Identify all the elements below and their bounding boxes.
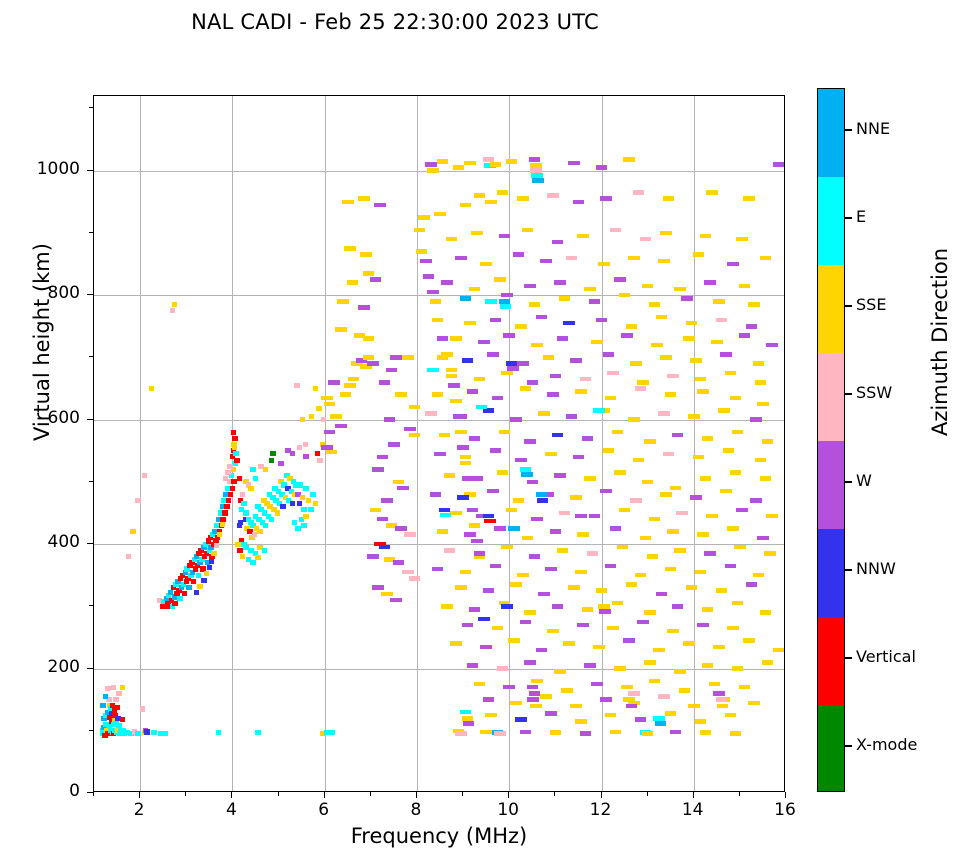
data-point: [462, 623, 474, 628]
y-tick-label: 1000: [10, 159, 80, 179]
data-point: [499, 299, 511, 304]
data-point: [232, 445, 238, 450]
data-point: [513, 498, 525, 503]
data-point: [529, 302, 541, 307]
data-point: [718, 408, 730, 413]
data-point: [280, 504, 286, 509]
data-point: [358, 305, 370, 310]
data-point: [360, 252, 372, 257]
colorbar-title: Azimuth Direction: [928, 192, 952, 492]
data-point: [501, 371, 513, 376]
x-tick-label: 4: [201, 800, 261, 820]
data-point: [303, 486, 309, 491]
colorbar-segment-ssw[interactable]: [818, 353, 844, 442]
data-point: [425, 411, 437, 416]
data-point: [596, 318, 608, 323]
data-point: [321, 417, 327, 422]
data-point: [474, 551, 486, 556]
data-point: [427, 168, 439, 173]
data-point: [310, 492, 316, 497]
data-point: [233, 451, 239, 456]
data-point: [303, 454, 309, 459]
data-point: [679, 688, 691, 693]
data-point: [367, 361, 379, 366]
data-point: [757, 402, 769, 407]
data-point: [474, 193, 486, 198]
data-point: [455, 256, 467, 261]
colorbar-tick: [845, 657, 852, 658]
data-point: [683, 641, 695, 646]
data-point: [605, 713, 617, 718]
data-point: [216, 730, 222, 735]
data-point: [642, 731, 654, 736]
data-point: [584, 476, 596, 481]
data-point: [591, 340, 603, 345]
data-point: [630, 498, 642, 503]
data-point: [524, 610, 536, 615]
data-point: [379, 380, 391, 385]
data-point: [384, 417, 396, 422]
data-point: [300, 417, 306, 422]
colorbar-label-nne: NNE: [856, 119, 890, 138]
data-point: [628, 417, 640, 422]
data-point: [563, 641, 575, 646]
data-point: [501, 293, 513, 298]
data-point: [290, 501, 296, 506]
data-point: [658, 694, 670, 699]
data-point: [570, 358, 582, 363]
colorbar-segment-nne[interactable]: [818, 89, 844, 178]
data-point: [395, 526, 407, 531]
data-point: [623, 157, 635, 162]
data-point: [483, 588, 495, 593]
data-point: [232, 436, 238, 441]
data-point: [416, 249, 428, 254]
data-point: [238, 520, 244, 525]
data-point: [520, 620, 532, 625]
data-point: [381, 592, 393, 597]
data-point: [762, 439, 774, 444]
data-point: [547, 629, 559, 634]
data-point: [688, 704, 700, 709]
data-point: [250, 560, 256, 565]
data-point: [658, 411, 670, 416]
data-point: [743, 196, 755, 201]
data-point: [464, 321, 476, 326]
data-point: [736, 237, 748, 242]
x-tick-label: 6: [294, 800, 354, 820]
data-point: [295, 526, 301, 531]
data-point: [434, 452, 446, 457]
data-point: [607, 626, 619, 631]
data-point: [623, 697, 635, 702]
data-point: [237, 548, 243, 553]
data-point: [324, 430, 336, 435]
data-point: [344, 383, 356, 388]
data-point: [478, 617, 490, 622]
data-point: [377, 455, 389, 460]
data-point: [467, 663, 479, 668]
data-point: [547, 193, 559, 198]
data-point: [301, 523, 307, 528]
data-point: [194, 590, 200, 595]
data-point: [191, 579, 197, 584]
data-point: [753, 361, 765, 366]
data-point: [450, 511, 462, 516]
data-point: [570, 704, 582, 709]
y-tick-mark: [89, 481, 93, 482]
data-point: [762, 660, 774, 665]
y-tick-mark: [87, 543, 93, 544]
data-point: [695, 377, 707, 382]
data-point: [326, 450, 338, 455]
data-point: [713, 691, 725, 696]
data-point: [469, 287, 481, 292]
data-point: [559, 296, 571, 301]
data-point: [388, 442, 400, 447]
data-point: [566, 256, 578, 261]
data-point: [308, 507, 314, 512]
data-point: [545, 452, 557, 457]
data-point: [439, 433, 451, 438]
data-point: [522, 228, 534, 233]
colorbar-segment-x-mode[interactable]: [818, 705, 844, 792]
data-point: [114, 705, 120, 710]
data-point: [746, 324, 758, 329]
data-point: [557, 548, 569, 553]
data-point: [483, 514, 495, 519]
data-point: [764, 551, 776, 556]
data-point: [348, 377, 360, 382]
data-point: [490, 162, 502, 167]
data-point: [563, 321, 575, 326]
data-point: [655, 721, 667, 726]
data-point: [702, 436, 714, 441]
data-point: [667, 374, 679, 379]
data-point: [467, 508, 479, 513]
data-point: [471, 231, 483, 236]
data-point: [727, 526, 739, 531]
data-point: [103, 694, 109, 699]
data-point: [328, 380, 340, 385]
data-point: [647, 554, 659, 559]
data-point: [651, 343, 663, 348]
data-point: [589, 299, 601, 304]
data-point: [484, 519, 496, 524]
x-tick-mark: [508, 792, 509, 798]
data-point: [730, 731, 742, 736]
data-point: [550, 730, 562, 735]
data-point: [540, 694, 552, 699]
colorbar-label-x-mode: X-mode: [856, 735, 917, 754]
colorbar-tick: [845, 393, 852, 394]
data-point: [543, 355, 555, 360]
data-point: [522, 536, 534, 541]
data-point: [748, 701, 760, 706]
data-point: [517, 361, 529, 366]
data-point: [501, 545, 513, 550]
data-point: [575, 389, 587, 394]
data-point: [497, 470, 509, 475]
data-point: [709, 682, 721, 687]
data-point: [409, 576, 421, 581]
data-point: [672, 604, 684, 609]
data-point: [713, 645, 725, 650]
y-tick-mark: [87, 792, 93, 793]
data-point: [530, 704, 542, 709]
data-point: [515, 324, 527, 329]
data-point: [635, 573, 647, 578]
data-point: [610, 228, 622, 233]
data-point: [644, 439, 656, 444]
colorbar[interactable]: [817, 88, 845, 792]
data-point: [224, 504, 230, 509]
colorbar-label-w: W: [856, 471, 872, 490]
data-point: [499, 234, 511, 239]
data-point: [750, 417, 762, 422]
data-point: [390, 355, 402, 360]
data-point: [575, 514, 587, 519]
data-point: [619, 508, 631, 513]
data-point: [665, 392, 677, 397]
data-point: [487, 489, 499, 494]
data-point: [577, 532, 589, 537]
data-point: [330, 414, 342, 419]
data-point: [725, 371, 737, 376]
data-point: [425, 162, 437, 167]
data-point: [510, 417, 522, 422]
data-point: [547, 392, 559, 397]
data-point: [177, 596, 183, 601]
data-point: [483, 697, 495, 702]
x-tick-label: 2: [109, 800, 169, 820]
data-point: [557, 336, 569, 341]
data-point: [568, 585, 580, 590]
data-point: [755, 380, 767, 385]
data-point: [363, 355, 375, 360]
data-point: [600, 489, 612, 494]
x-tick-mark: [324, 792, 325, 798]
data-point: [480, 262, 492, 267]
data-point: [614, 277, 626, 282]
data-point: [253, 476, 259, 481]
y-tick-label: 0: [10, 781, 80, 801]
data-point: [170, 308, 176, 313]
data-point: [617, 545, 629, 550]
data-point: [204, 571, 210, 576]
data-point: [464, 532, 476, 537]
data-point: [644, 660, 656, 665]
ionogram-figure: NAL CADI - Feb 25 22:30:00 2023 UTC 2468…: [0, 0, 958, 857]
colorbar-label-vertical: Vertical: [856, 647, 916, 666]
data-point: [301, 507, 307, 512]
data-point: [520, 467, 532, 472]
data-point: [340, 392, 352, 397]
data-point: [222, 510, 228, 515]
data-point: [432, 392, 444, 397]
data-point: [552, 240, 564, 245]
data-point: [550, 374, 562, 379]
data-point: [186, 585, 192, 590]
data-point: [554, 280, 566, 285]
data-point: [485, 200, 497, 205]
data-point: [230, 486, 236, 491]
data-point: [506, 508, 518, 513]
data-point: [686, 321, 698, 326]
data-point: [450, 336, 462, 341]
data-point: [377, 517, 389, 522]
data-point: [670, 486, 682, 491]
data-point: [568, 161, 580, 166]
data-point: [545, 711, 557, 716]
data-point: [690, 495, 702, 500]
data-point: [750, 498, 762, 503]
data-point: [753, 573, 765, 578]
data-point: [633, 190, 645, 195]
data-point: [263, 523, 269, 528]
colorbar-segment-w[interactable]: [818, 441, 844, 530]
y-tick-mark: [87, 668, 93, 669]
data-point: [120, 717, 126, 722]
data-point: [427, 368, 439, 373]
data-point: [499, 430, 511, 435]
data-point: [241, 501, 247, 506]
data-point: [418, 215, 430, 220]
data-point: [637, 380, 649, 385]
data-point: [437, 529, 449, 534]
data-point: [494, 526, 506, 531]
data-point: [663, 196, 675, 201]
colorbar-tick: [845, 305, 852, 306]
data-point: [524, 439, 536, 444]
data-point: [474, 377, 486, 382]
data-point: [270, 451, 276, 456]
data-point: [554, 473, 566, 478]
data-point: [144, 729, 150, 734]
data-point: [700, 234, 712, 239]
data-point: [342, 200, 354, 205]
data-point: [409, 405, 421, 410]
data-point: [635, 386, 647, 391]
data-point: [214, 543, 220, 548]
colorbar-segment-sse[interactable]: [818, 265, 844, 354]
x-tick-mark: [462, 792, 463, 796]
data-point: [386, 368, 398, 373]
data-point: [653, 716, 665, 721]
data-point: [580, 731, 592, 736]
data-point: [240, 492, 246, 497]
data-point: [347, 280, 359, 285]
data-point: [455, 585, 467, 590]
data-point: [582, 607, 594, 612]
data-point: [515, 717, 527, 722]
data-point: [674, 287, 686, 292]
data-point: [531, 679, 543, 684]
data-point: [370, 508, 382, 513]
data-point: [575, 719, 587, 724]
data-point: [300, 495, 306, 500]
data-point: [467, 389, 479, 394]
data-point: [600, 196, 612, 201]
colorbar-segment-vertical[interactable]: [818, 617, 844, 706]
data-point: [706, 190, 718, 195]
data-point: [530, 168, 542, 173]
data-point: [642, 480, 654, 485]
data-point: [135, 498, 141, 503]
x-tick-mark: [693, 792, 694, 798]
data-point: [587, 551, 599, 556]
data-point: [255, 730, 261, 735]
data-point: [529, 691, 541, 696]
data-point: [257, 529, 263, 534]
colorbar-segment-e[interactable]: [818, 177, 844, 266]
data-point: [510, 582, 522, 587]
data-point: [704, 551, 716, 556]
x-tick-label: 8: [386, 800, 446, 820]
data-point: [497, 666, 509, 671]
data-point: [663, 452, 675, 457]
data-point: [725, 713, 737, 718]
data-point: [531, 343, 543, 348]
y-tick-mark: [87, 419, 93, 420]
data-point: [111, 685, 117, 690]
data-point: [580, 377, 592, 382]
data-point: [223, 476, 229, 481]
data-point: [642, 284, 654, 289]
data-point: [623, 638, 635, 643]
data-point: [485, 713, 497, 718]
data-point: [363, 336, 375, 341]
x-tick-mark: [185, 792, 186, 796]
colorbar-tick: [845, 745, 852, 746]
data-point: [439, 508, 451, 513]
data-point: [711, 340, 723, 345]
data-point: [402, 570, 414, 575]
data-point: [667, 529, 679, 534]
data-point: [120, 685, 126, 690]
data-point: [483, 157, 495, 162]
data-point: [460, 455, 472, 460]
data-point: [450, 641, 462, 646]
data-point: [521, 472, 533, 477]
data-point: [250, 467, 256, 472]
data-point: [561, 688, 573, 693]
data-point: [404, 427, 416, 432]
data-point: [324, 730, 336, 735]
data-point: [297, 501, 303, 506]
data-point: [497, 190, 509, 195]
data-point: [554, 669, 566, 674]
data-point: [653, 648, 665, 653]
data-point: [313, 386, 319, 391]
data-point: [706, 514, 718, 519]
data-point: [395, 392, 407, 397]
data-point: [605, 396, 617, 401]
data-point: [427, 290, 439, 295]
data-point: [448, 383, 460, 388]
data-point: [420, 259, 432, 264]
colorbar-tick: [845, 481, 852, 482]
data-point: [460, 710, 472, 715]
colorbar-segment-nnw[interactable]: [818, 529, 844, 618]
data-point: [566, 414, 578, 419]
data-point: [457, 445, 469, 450]
data-point: [278, 461, 284, 466]
data-point: [621, 685, 633, 690]
data-point: [660, 231, 672, 236]
data-point: [225, 470, 231, 475]
data-point: [596, 165, 608, 170]
